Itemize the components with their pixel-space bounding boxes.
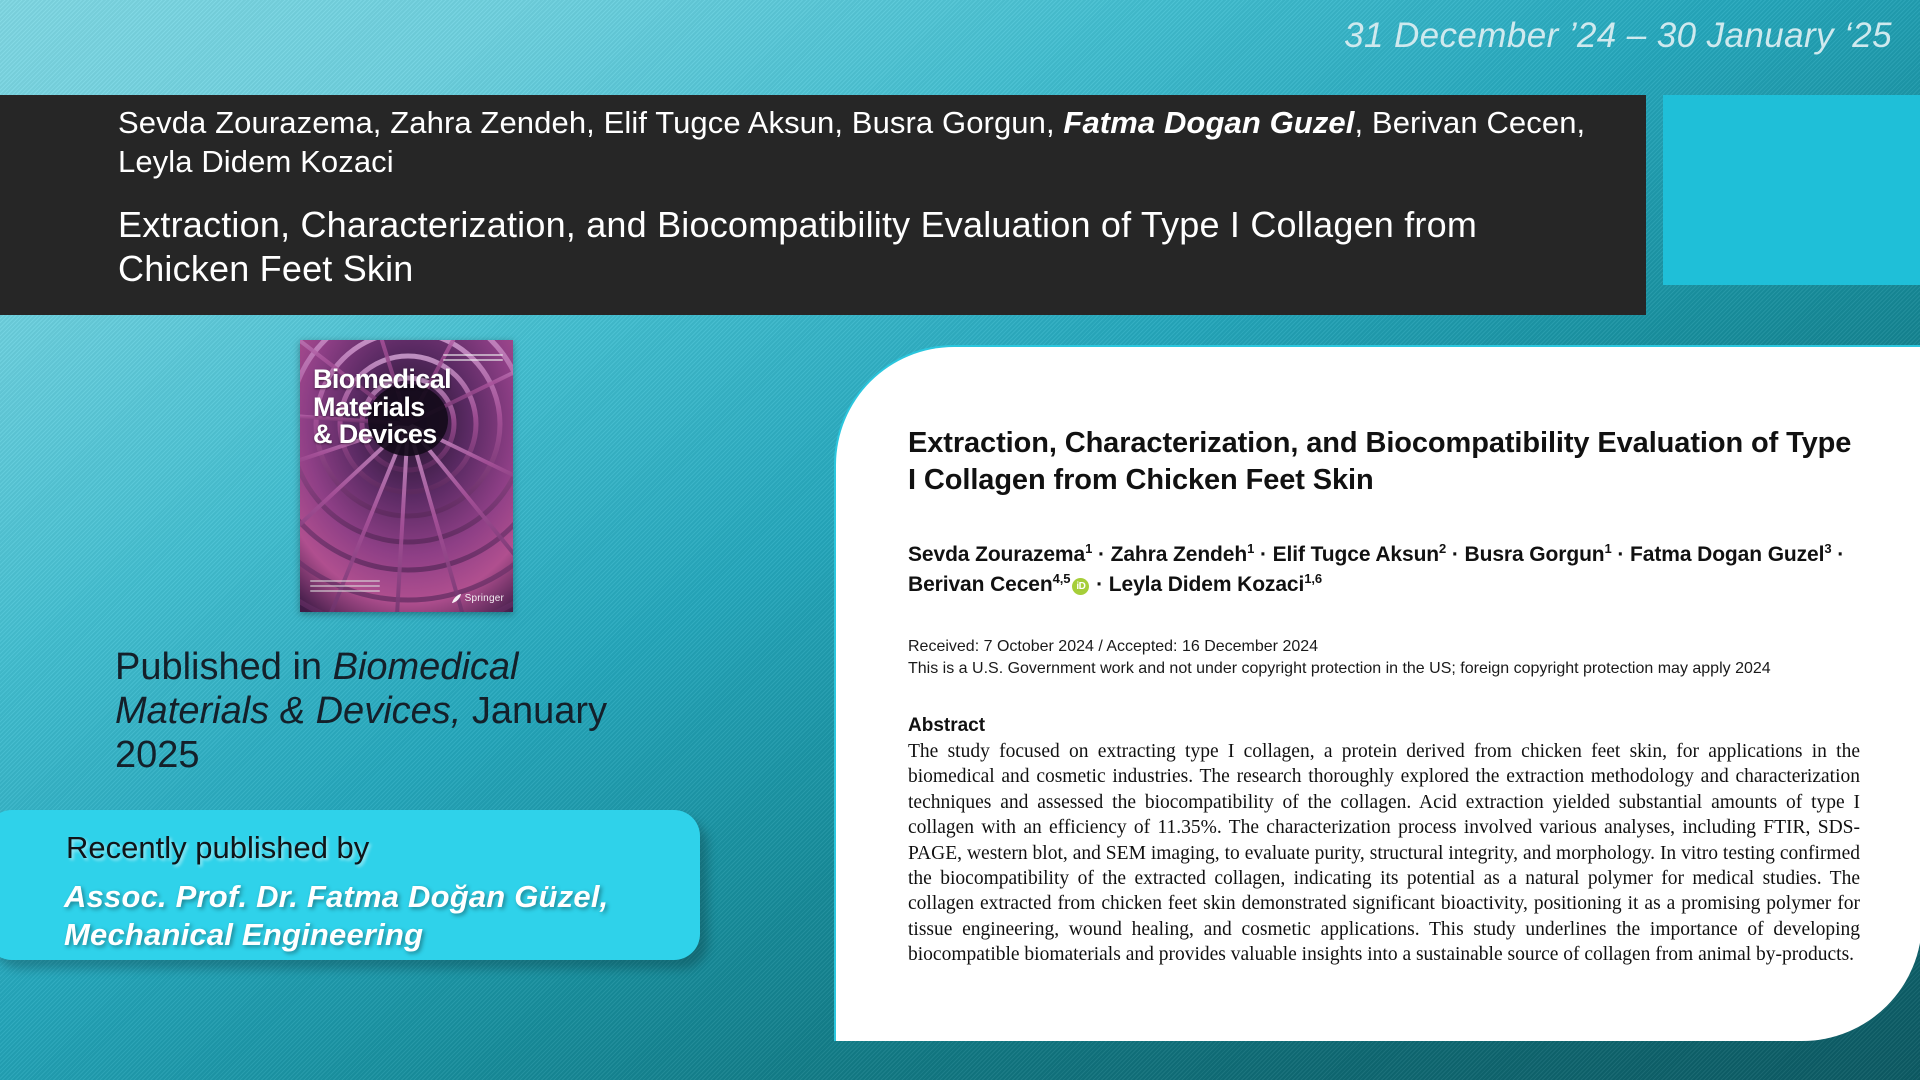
cover-volume-text bbox=[443, 354, 503, 364]
paper-title: Extraction, Characterization, and Biocom… bbox=[908, 425, 1860, 498]
orcid-icon[interactable]: iD bbox=[1072, 578, 1089, 595]
author-separator: · bbox=[1254, 543, 1272, 566]
paper-author-list: Sevda Zourazema1 · Zahra Zendeh1 · Elif … bbox=[908, 540, 1860, 600]
springer-leaf-icon bbox=[451, 593, 462, 604]
paper-author: Elif Tugce Aksun bbox=[1273, 543, 1439, 566]
cover-title-line-3: & Devices bbox=[313, 421, 505, 449]
abstract-heading: Abstract bbox=[908, 715, 1860, 737]
banner-title: Extraction, Characterization, and Biocom… bbox=[118, 203, 1586, 291]
title-banner: Sevda Zourazema, Zahra Zendeh, Elif Tugc… bbox=[0, 95, 1646, 315]
badge-subtitle: Recently published by bbox=[66, 830, 369, 866]
accent-rectangle bbox=[1663, 95, 1920, 285]
paper-dates: Received: 7 October 2024 / Accepted: 16 … bbox=[908, 636, 1860, 681]
paper-author: Zahra Zendeh bbox=[1111, 543, 1248, 566]
abstract-text: The study focused on extracting type I c… bbox=[908, 739, 1860, 967]
badge-author-name: Assoc. Prof. Dr. Fatma Doğan Güzel, Mech… bbox=[64, 878, 682, 954]
paper-author: Fatma Dogan Guzel bbox=[1630, 543, 1824, 566]
paper-author-affiliation-marker: 4,5 bbox=[1053, 571, 1071, 586]
slide-canvas: 31 December ’24 – 30 January ‘25 Sevda Z… bbox=[0, 0, 1920, 1080]
banner-authors: Sevda Zourazema, Zahra Zendeh, Elif Tugc… bbox=[118, 103, 1586, 181]
cover-title-line-1: Biomedical bbox=[313, 366, 505, 394]
published-in-caption: Published in Biomedical Materials & Devi… bbox=[115, 645, 645, 777]
cover-publisher-name: Springer bbox=[465, 593, 504, 604]
paper-preview-card: Extraction, Characterization, and Biocom… bbox=[834, 345, 1920, 1041]
date-header: 31 December ’24 – 30 January ‘25 bbox=[0, 0, 1920, 78]
paper-author-affiliation-marker: 1 bbox=[1605, 541, 1612, 556]
author-separator: · bbox=[1446, 543, 1464, 566]
paper-received-line: Received: 7 October 2024 / Accepted: 16 … bbox=[908, 636, 1860, 659]
author-separator: · bbox=[1090, 573, 1108, 596]
cover-title-line-2: Materials bbox=[313, 394, 505, 422]
recently-published-badge: Recently published by Assoc. Prof. Dr. F… bbox=[0, 810, 700, 960]
banner-authors-highlight: Fatma Dogan Guzel bbox=[1063, 105, 1354, 140]
cover-publisher-logo: Springer bbox=[451, 593, 504, 604]
cover-title: Biomedical Materials & Devices bbox=[313, 366, 505, 449]
author-separator: · bbox=[1092, 543, 1110, 566]
paper-author: Leyla Didem Kozaci bbox=[1109, 573, 1304, 596]
journal-cover-image: Biomedical Materials & Devices Springer bbox=[300, 340, 513, 612]
paper-author: Berivan Cecen bbox=[908, 573, 1053, 596]
date-range-label: 31 December ’24 – 30 January ‘25 bbox=[1344, 16, 1892, 56]
paper-author-affiliation-marker: 1,6 bbox=[1304, 571, 1322, 586]
paper-author: Busra Gorgun bbox=[1465, 543, 1605, 566]
author-separator: · bbox=[1832, 543, 1845, 566]
published-in-prefix: Published in bbox=[115, 646, 333, 688]
cover-issn-block bbox=[310, 580, 380, 602]
author-separator: · bbox=[1612, 543, 1630, 566]
paper-author: Sevda Zourazema bbox=[908, 543, 1085, 566]
paper-author-affiliation-marker: 3 bbox=[1824, 541, 1831, 556]
banner-authors-pre: Sevda Zourazema, Zahra Zendeh, Elif Tugc… bbox=[118, 105, 1063, 140]
paper-copyright-line: This is a U.S. Government work and not u… bbox=[908, 658, 1860, 681]
